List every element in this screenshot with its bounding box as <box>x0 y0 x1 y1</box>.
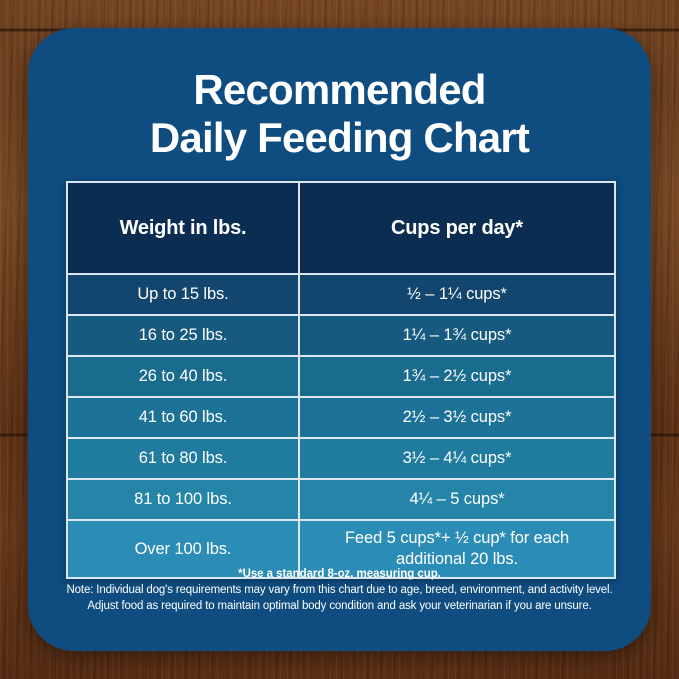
cell-cups: ½ – 1¼ cups* <box>299 274 615 315</box>
cell-weight: 81 to 100 lbs. <box>67 479 299 520</box>
column-header-cups: Cups per day* <box>299 182 615 274</box>
table-row: Up to 15 lbs. ½ – 1¼ cups* <box>67 274 615 315</box>
cell-weight: 41 to 60 lbs. <box>67 397 299 438</box>
page-title-line-2: Daily Feeding Chart <box>68 114 611 162</box>
column-header-weight: Weight in lbs. <box>67 182 299 274</box>
footnote-note-line-1: Note: Individual dog's requirements may … <box>46 583 633 599</box>
cell-cups: 3½ – 4¼ cups* <box>299 438 615 479</box>
table-header: Weight in lbs. Cups per day* <box>67 182 615 274</box>
feeding-chart-table: Weight in lbs. Cups per day* Up to 15 lb… <box>66 181 616 579</box>
cell-cups-line-1: Feed 5 cups*+ ½ cup* for each <box>306 528 608 549</box>
table-row: 26 to 40 lbs. 1¾ – 2½ cups* <box>67 356 615 397</box>
cell-weight: 61 to 80 lbs. <box>67 438 299 479</box>
cell-weight: 26 to 40 lbs. <box>67 356 299 397</box>
cell-cups: 4¼ – 5 cups* <box>299 479 615 520</box>
cell-weight: 16 to 25 lbs. <box>67 315 299 356</box>
footnotes-block: *Use a standard 8-oz. measuring cup. Not… <box>28 568 651 615</box>
cell-cups-line-2: additional 20 lbs. <box>306 549 608 570</box>
cell-cups: 1¾ – 2½ cups* <box>299 356 615 397</box>
feeding-chart-card: Recommended Daily Feeding Chart Weight i… <box>28 28 651 651</box>
table-row: 41 to 60 lbs. 2½ – 3½ cups* <box>67 397 615 438</box>
table-header-row: Weight in lbs. Cups per day* <box>67 182 615 274</box>
table-body: Up to 15 lbs. ½ – 1¼ cups* 16 to 25 lbs.… <box>67 274 615 578</box>
page-title: Recommended Daily Feeding Chart <box>28 66 651 162</box>
table-row: 81 to 100 lbs. 4¼ – 5 cups* <box>67 479 615 520</box>
table-row: 61 to 80 lbs. 3½ – 4¼ cups* <box>67 438 615 479</box>
footnote-note-line-2: Adjust food as required to maintain opti… <box>46 599 633 615</box>
cell-weight: Up to 15 lbs. <box>67 274 299 315</box>
cell-cups: 1¼ – 1¾ cups* <box>299 315 615 356</box>
page-title-line-1: Recommended <box>68 66 611 114</box>
footnote-measuring-cup: *Use a standard 8-oz. measuring cup. <box>46 568 633 580</box>
cell-cups: 2½ – 3½ cups* <box>299 397 615 438</box>
table-row: 16 to 25 lbs. 1¼ – 1¾ cups* <box>67 315 615 356</box>
